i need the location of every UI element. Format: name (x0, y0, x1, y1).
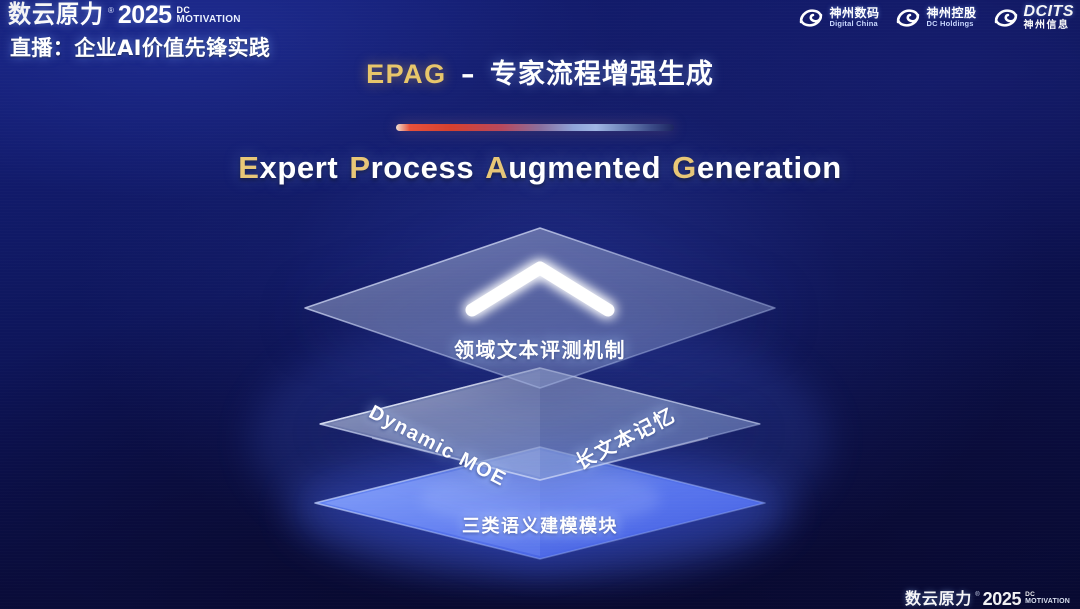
subtitle-word-expert: Expert (238, 150, 338, 185)
partner-name-en: DC Holdings (926, 20, 976, 28)
subtitle-word-rest: ugmented (508, 150, 661, 185)
watermark-year: 2025 (983, 591, 1021, 607)
subtitle-word-rest: eneration (697, 150, 842, 185)
brand-logo-dc-motivation: DC MOTIVATION (177, 4, 241, 25)
partner-logo-group: 神州数码 Digital China 神州控股 DC Holdings DCIT… (798, 4, 1074, 31)
subtitle-word-rest: rocess (371, 150, 475, 185)
slide-subtitle: ExpertProcessAugmentedGeneration (0, 150, 1080, 186)
brand-logo: 数云原力 ® 2025 DC MOTIVATION (8, 4, 270, 27)
partner-logo-text: DCITS 神州信息 (1024, 4, 1075, 31)
swirl-icon (895, 7, 921, 29)
slide-canvas: 数云原力 ® 2025 DC MOTIVATION 直播：企业AI价值先锋实践 … (0, 0, 1080, 609)
subtitle-initial: A (485, 150, 508, 185)
header-left-block: 数云原力 ® 2025 DC MOTIVATION 直播：企业AI价值先锋实践 (8, 4, 270, 62)
swirl-icon (993, 7, 1019, 29)
subtitle-initial: G (672, 150, 697, 185)
watermark-registered: ® (975, 592, 979, 598)
partner-logo-text: 神州控股 DC Holdings (926, 7, 976, 27)
subtitle-word-augmented: Augmented (485, 150, 661, 185)
partner-logo-dc-holdings: 神州控股 DC Holdings (895, 7, 976, 29)
partner-logo-text: 神州数码 Digital China (829, 7, 879, 27)
swirl-icon (798, 7, 824, 29)
subtitle-initial: P (349, 150, 370, 185)
gradient-divider (396, 124, 674, 131)
title-chinese: 专家流程增强生成 (490, 59, 714, 90)
layer-stack-graphic (0, 210, 1080, 609)
live-session-title: 直播：企业AI价值先锋实践 (10, 32, 270, 62)
registered-mark: ® (108, 6, 114, 15)
brand-logo-motivation: MOTIVATION (177, 15, 241, 25)
brand-logo-chinese: 数云原力 (8, 3, 104, 27)
subtitle-word-process: Process (349, 150, 474, 185)
title-dash: – (457, 59, 480, 90)
partner-name-cn: DCITS (1024, 4, 1075, 21)
subtitle-word-rest: xpert (260, 150, 339, 185)
subtitle-initial: E (238, 150, 259, 185)
partner-logo-digital-china: 神州数码 Digital China (798, 7, 879, 29)
partner-logo-dcits: DCITS 神州信息 (993, 4, 1075, 31)
watermark-dc-motivation: DC MOTIVATION (1025, 591, 1070, 606)
brand-logo-year: 2025 (118, 4, 172, 27)
subtitle-word-generation: Generation (672, 150, 842, 185)
footer-watermark-logo: 数云原力 ® 2025 DC MOTIVATION (905, 591, 1070, 607)
isometric-layer-diagram: 领域文本评测机制 Dynamic MOE 长文本记忆 三类语义建模模块 (0, 210, 1080, 609)
title-acronym: EPAG (366, 59, 447, 89)
partner-name-en: Digital China (829, 20, 879, 28)
watermark-motivation: MOTIVATION (1025, 598, 1070, 605)
partner-name-en: 神州信息 (1024, 21, 1075, 32)
watermark-chinese: 数云原力 (905, 591, 972, 607)
